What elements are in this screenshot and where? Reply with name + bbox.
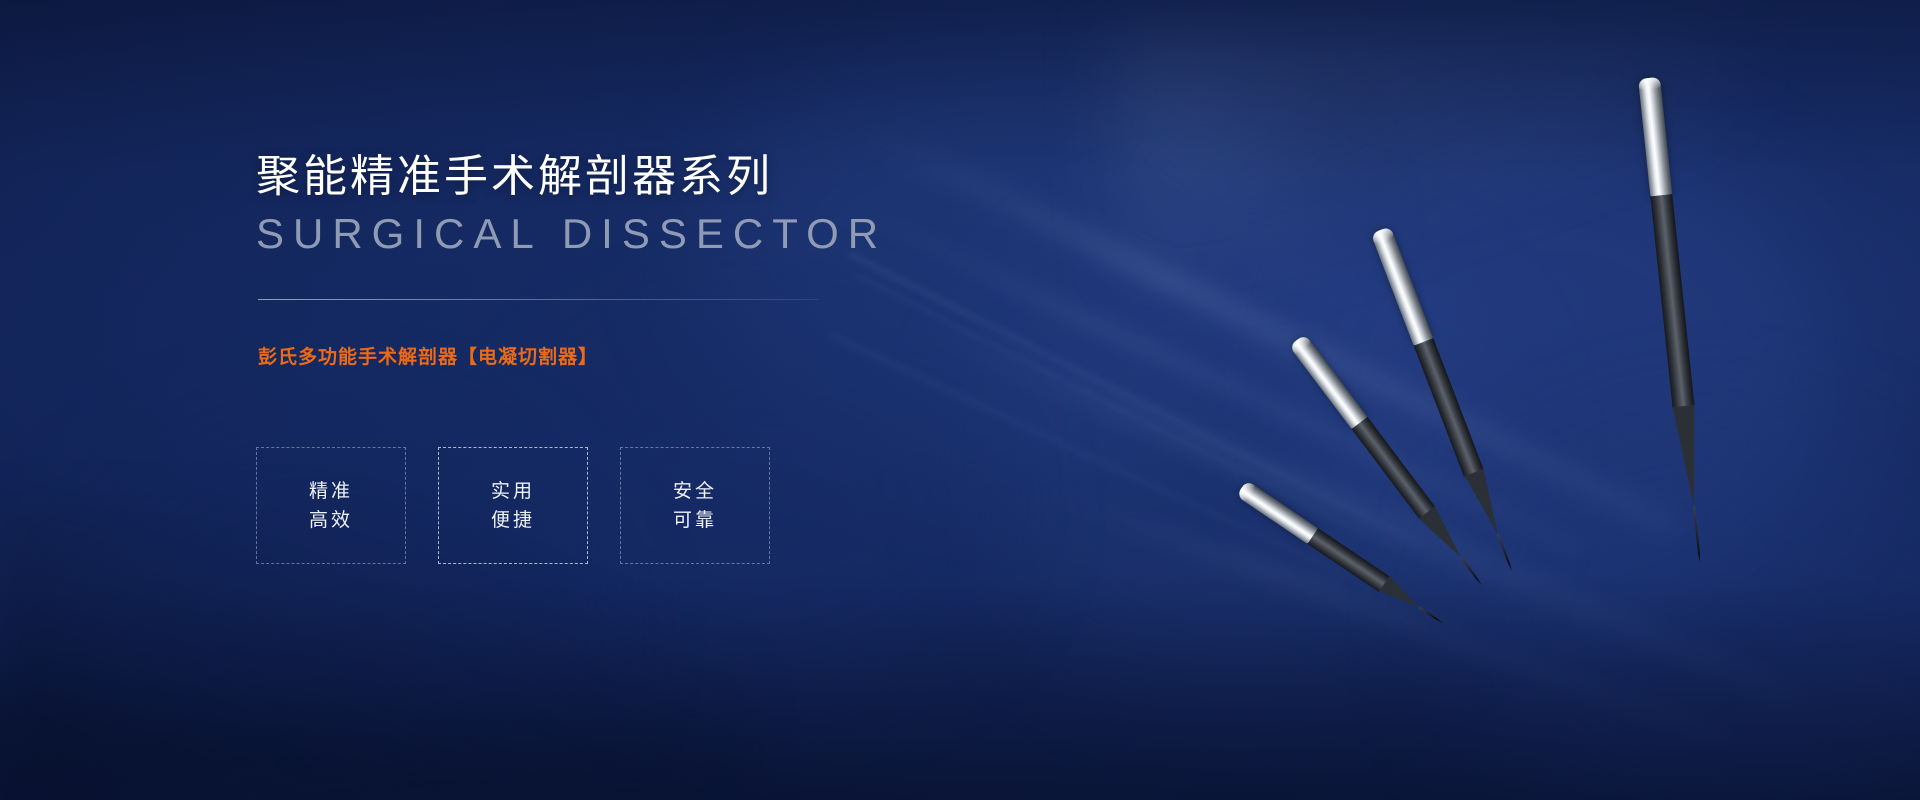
product-hero-banner: 聚能精准手术解剖器系列 SURGICAL DISSECTOR 彭氏多功能手术解剖… [0,0,1920,800]
feature-box-3[interactable]: 安全 可靠 [620,447,770,564]
title-divider [258,299,818,300]
feature-line-1: 安全 [673,482,717,501]
feature-box-group: 精准 高效 实用 便捷 安全 可靠 [256,447,770,564]
product-tagline: 彭氏多功能手术解剖器【电凝切割器】 [258,342,598,369]
hero-content: 聚能精准手术解剖器系列 SURGICAL DISSECTOR 彭氏多功能手术解剖… [256,0,1016,800]
feature-line-1: 精准 [309,482,353,501]
feature-line-2: 高效 [309,511,353,530]
page-subtitle-english: SURGICAL DISSECTOR [256,210,887,258]
feature-line-1: 实用 [491,482,535,501]
feature-box-2[interactable]: 实用 便捷 [438,447,588,564]
feature-line-2: 可靠 [673,511,717,530]
feature-line-2: 便捷 [491,511,535,530]
page-title: 聚能精准手术解剖器系列 [256,140,773,204]
feature-box-1[interactable]: 精准 高效 [256,447,406,564]
